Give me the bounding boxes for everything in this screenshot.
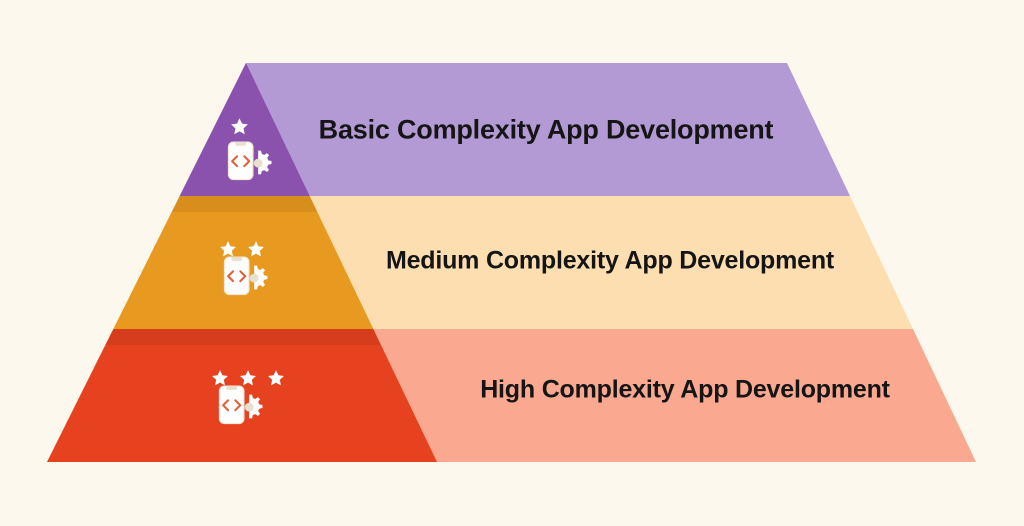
pyramid-graphic xyxy=(0,0,1024,526)
pyramid-diagram-canvas: Basic Complexity App Development Medium … xyxy=(0,0,1024,526)
tier-band-basic-light xyxy=(0,0,1024,196)
